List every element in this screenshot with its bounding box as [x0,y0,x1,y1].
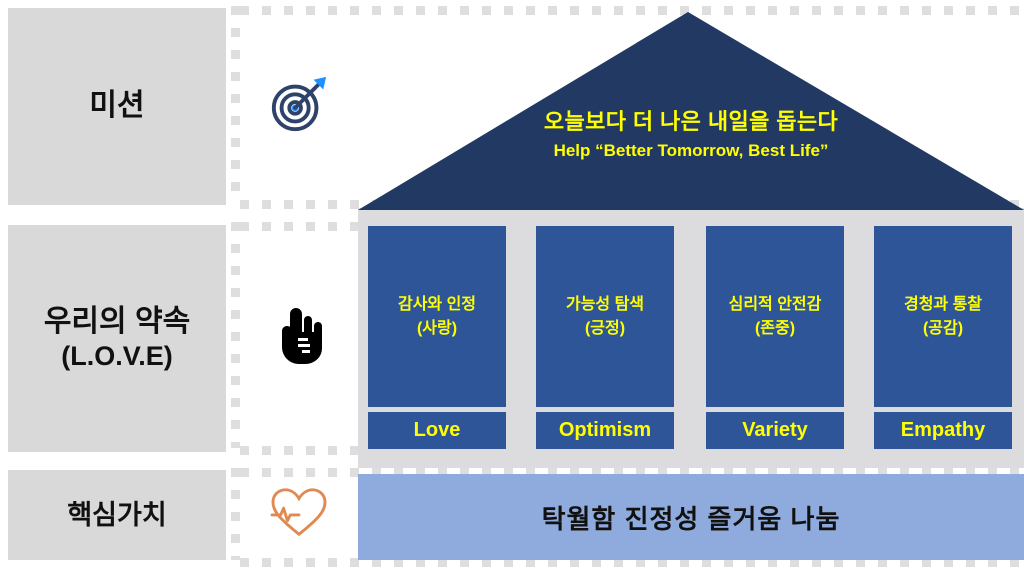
row-label-core-values-text: 핵심가치 [67,499,166,532]
pillar-love[interactable]: 감사와 인정 (사랑) [368,226,506,407]
row-label-promise-text: 우리의 약속 [44,304,190,341]
house-diagram: 오늘보다 더 나은 내일을 돕는다 Help “Better Tomorrow,… [358,0,1024,573]
icon-cell-mission [240,8,358,205]
row-label-mission: 미션 [8,8,226,205]
row-label-promise: 우리의 약속 (L.O.V.E) [8,225,226,452]
pillar-optimism-title: 가능성 탐색 [566,293,644,316]
pillar-love-title: 감사와 인정 [398,293,476,316]
dashed-divider-left-promise [231,222,240,448]
pillar-optimism[interactable]: 가능성 탐색 (긍정) [536,226,674,407]
pillar-cap-variety[interactable]: Variety [706,412,844,449]
pillar-variety[interactable]: 심리적 안전감 (존중) [706,226,844,407]
heart-pulse-icon [270,486,328,545]
target-icon [268,73,330,140]
pillar-empathy-subtitle: (공감) [904,317,982,340]
row-label-mission-text: 미션 [89,88,144,125]
pillar-love-subtitle: (사랑) [398,317,476,340]
icon-cell-promise [240,225,358,452]
row-label-promise-subtext: (L.O.V.E) [44,340,190,373]
pillar-empathy-title: 경청과 통찰 [904,293,982,316]
pillar-variety-subtitle: (존중) [729,317,822,340]
pillar-empathy[interactable]: 경청과 통찰 (공감) [874,226,1012,407]
row-label-core-values: 핵심가치 [8,470,226,560]
pillar-cap-empathy[interactable]: Empathy [874,412,1012,449]
roof-shape [358,12,1024,210]
pointing-hand-icon [276,308,322,369]
vision-house-slide: 미션 우리의 약속 (L.O.V.E) 핵심가치 [0,0,1024,573]
pillar-cap-optimism[interactable]: Optimism [536,412,674,449]
dashed-divider-left-values [231,468,240,560]
foundation-core-values[interactable]: 탁월함 진정성 즐거움 나눔 [358,474,1024,560]
icon-cell-core-values [240,470,358,560]
dashed-divider-left-mission [231,6,240,202]
pillar-variety-title: 심리적 안전감 [729,293,822,316]
pillar-optimism-subtitle: (긍정) [566,317,644,340]
pillar-cap-love[interactable]: Love [368,412,506,449]
